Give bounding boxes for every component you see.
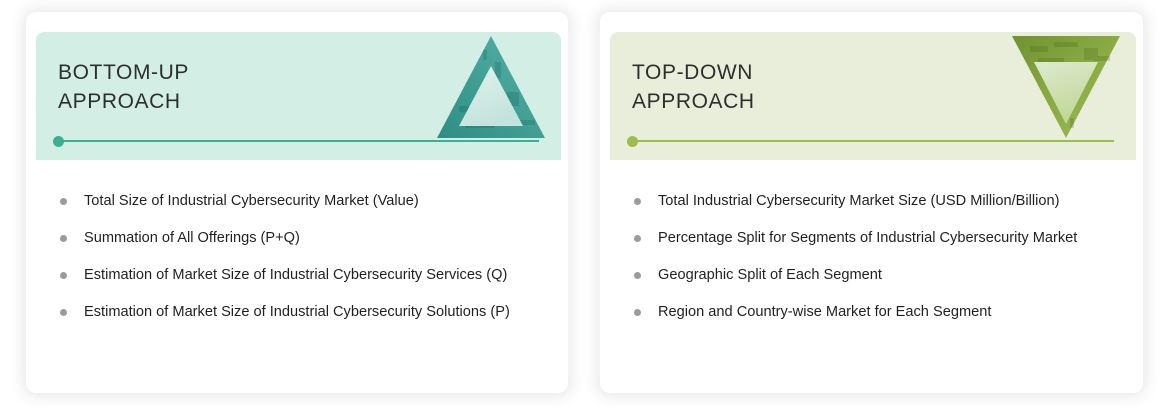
bullet-dot-icon <box>634 272 641 279</box>
bullet-dot-icon <box>634 198 641 205</box>
triangle-down-icon <box>1010 32 1122 142</box>
slide-canvas: BOTTOM-UP APPROACH <box>0 0 1170 419</box>
list-item: Region and Country-wise Market for Each … <box>630 301 1121 324</box>
bullet-dot-icon <box>60 272 67 279</box>
bullet-list-top-down: Total Industrial Cybersecurity Market Si… <box>630 190 1121 338</box>
list-item-text: Region and Country-wise Market for Each … <box>658 304 991 320</box>
header-accent-rule-top-down <box>632 140 1114 142</box>
list-item: Geographic Split of Each Segment <box>630 264 1121 287</box>
list-item: Summation of All Offerings (P+Q) <box>56 227 546 250</box>
list-item: Total Industrial Cybersecurity Market Si… <box>630 190 1121 213</box>
list-item: Estimation of Market Size of Industrial … <box>56 264 546 287</box>
bullet-dot-icon <box>634 235 641 242</box>
card-title-bottom-up: BOTTOM-UP APPROACH <box>58 58 189 116</box>
accent-dot-bottom-up <box>53 136 64 147</box>
list-item-text: Geographic Split of Each Segment <box>658 267 882 283</box>
bullet-dot-icon <box>60 235 67 242</box>
header-accent-rule-bottom-up <box>58 140 539 142</box>
list-item-text: Total Size of Industrial Cybersecurity M… <box>84 193 419 209</box>
bullet-list-bottom-up: Total Size of Industrial Cybersecurity M… <box>56 190 546 338</box>
list-item-text: Estimation of Market Size of Industrial … <box>84 304 510 320</box>
triangle-up-icon <box>435 32 547 142</box>
list-item-text: Percentage Split for Segments of Industr… <box>658 230 1077 246</box>
card-header-top-down: TOP-DOWN APPROACH <box>610 32 1136 160</box>
accent-dot-top-down <box>627 136 638 147</box>
bullet-dot-icon <box>634 309 641 316</box>
bullet-dot-icon <box>60 309 67 316</box>
list-item-text: Total Industrial Cybersecurity Market Si… <box>658 193 1059 209</box>
card-top-down-approach[interactable]: TOP-DOWN APPROACH <box>600 12 1143 393</box>
list-item-text: Estimation of Market Size of Industrial … <box>84 267 507 283</box>
list-item-text: Summation of All Offerings (P+Q) <box>84 230 300 246</box>
card-header-bottom-up: BOTTOM-UP APPROACH <box>36 32 561 160</box>
card-title-top-down: TOP-DOWN APPROACH <box>632 58 755 116</box>
list-item: Total Size of Industrial Cybersecurity M… <box>56 190 546 213</box>
card-bottom-up-approach[interactable]: BOTTOM-UP APPROACH <box>26 12 568 393</box>
list-item: Percentage Split for Segments of Industr… <box>630 227 1121 250</box>
bullet-dot-icon <box>60 198 67 205</box>
list-item: Estimation of Market Size of Industrial … <box>56 301 546 324</box>
